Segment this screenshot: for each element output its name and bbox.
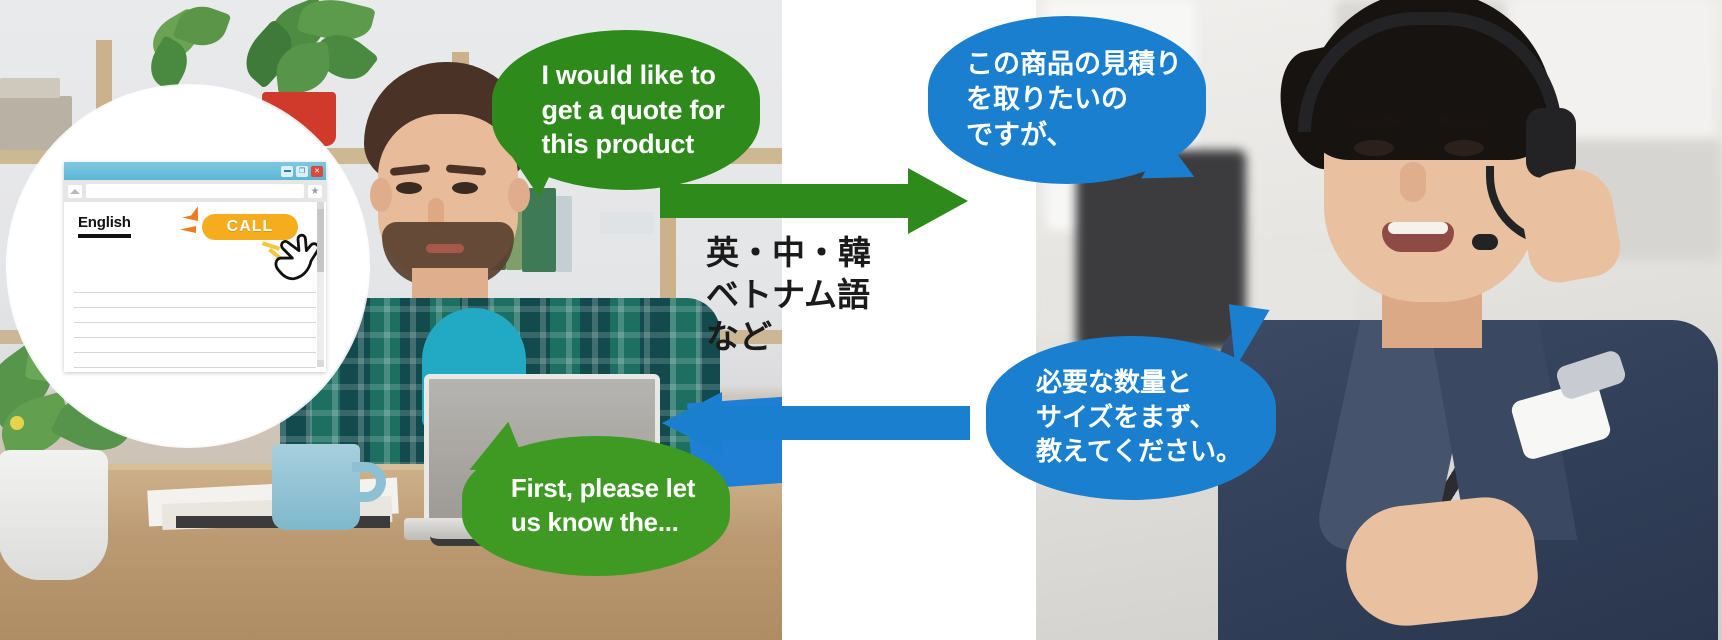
mouth — [426, 244, 464, 253]
bubble-line-1: First, please let — [511, 472, 695, 506]
browser-toolbar: ★ — [64, 180, 326, 202]
bubble-body: 必要な数量と サイズをまず、 教えてください。 — [986, 336, 1276, 500]
eye — [396, 182, 422, 194]
teeth — [1388, 222, 1448, 234]
supported-languages-label: 英・中・韓 ベトナム語 など — [706, 232, 906, 359]
bubble-text: この商品の見積り を取りたいの ですが、 — [952, 47, 1182, 154]
bubble-line-3: ですが、 — [966, 118, 1182, 154]
eye — [452, 182, 478, 194]
language-line-1: 英・中・韓 — [706, 232, 906, 274]
speech-bubble-customer-english-top: I would like to get a quote for this pro… — [492, 30, 760, 190]
bubble-line-3: 教えてください。 — [1036, 435, 1242, 470]
content-lines — [64, 278, 326, 382]
minimize-button[interactable] — [281, 166, 293, 177]
spark-icon — [180, 226, 196, 233]
bubble-line-1: I would like to — [542, 58, 725, 93]
bubble-text: First, please let us know the... — [497, 472, 695, 540]
bubble-tail — [1229, 300, 1275, 368]
vase — [0, 450, 108, 580]
language-line-2: ベトナム語 — [706, 274, 906, 316]
book — [0, 78, 60, 98]
bubble-text: I would like to get a quote for this pro… — [528, 58, 725, 162]
speech-bubble-customer-english-bottom: First, please let us know the... — [462, 436, 730, 576]
coffee-mug — [272, 444, 360, 530]
browser-window-mock: ❐ ✕ ★ English CALL — [64, 162, 326, 372]
ear — [370, 178, 392, 212]
bubble-line-2: を取りたいの — [966, 82, 1182, 118]
language-line-3: など — [706, 316, 906, 358]
close-button[interactable]: ✕ — [311, 166, 323, 177]
eye — [1444, 140, 1484, 156]
bubble-line-1: この商品の見積り — [966, 47, 1182, 83]
bubble-line-2: サイズをまず、 — [1036, 401, 1242, 436]
bubble-text: 必要な数量と サイズをまず、 教えてください。 — [1020, 366, 1242, 470]
language-label: English — [78, 214, 131, 238]
headset-microphone-icon — [1472, 234, 1498, 250]
bookmark-star-icon[interactable]: ★ — [308, 185, 322, 198]
browser-content: English CALL — [64, 202, 326, 372]
scrollbar-thumb[interactable] — [317, 208, 324, 272]
bubble-line-2: us know the... — [511, 506, 695, 540]
bubble-line-2: get a quote for — [542, 93, 725, 128]
maximize-button[interactable]: ❐ — [296, 166, 308, 177]
eye — [1354, 140, 1394, 156]
url-input[interactable] — [86, 184, 304, 198]
spark-icon — [190, 205, 201, 219]
bubble-line-1: 必要な数量と — [1036, 366, 1242, 401]
screenshot-stage: ❐ ✕ ★ English CALL — [0, 0, 1722, 640]
nose — [1400, 162, 1426, 202]
speech-bubble-operator-japanese-top: この商品の見積り を取りたいの ですが、 — [928, 16, 1206, 184]
scroll-up-button[interactable] — [317, 202, 324, 209]
home-icon[interactable] — [68, 185, 82, 198]
flower — [10, 416, 24, 430]
scroll-down-button[interactable] — [317, 360, 324, 367]
browser-callout-circle: ❐ ✕ ★ English CALL — [8, 86, 368, 446]
speech-bubble-operator-japanese-bottom: 必要な数量と サイズをまず、 教えてください。 — [986, 336, 1276, 500]
browser-titlebar: ❐ ✕ — [64, 162, 326, 180]
bubble-line-3: this product — [542, 127, 725, 162]
